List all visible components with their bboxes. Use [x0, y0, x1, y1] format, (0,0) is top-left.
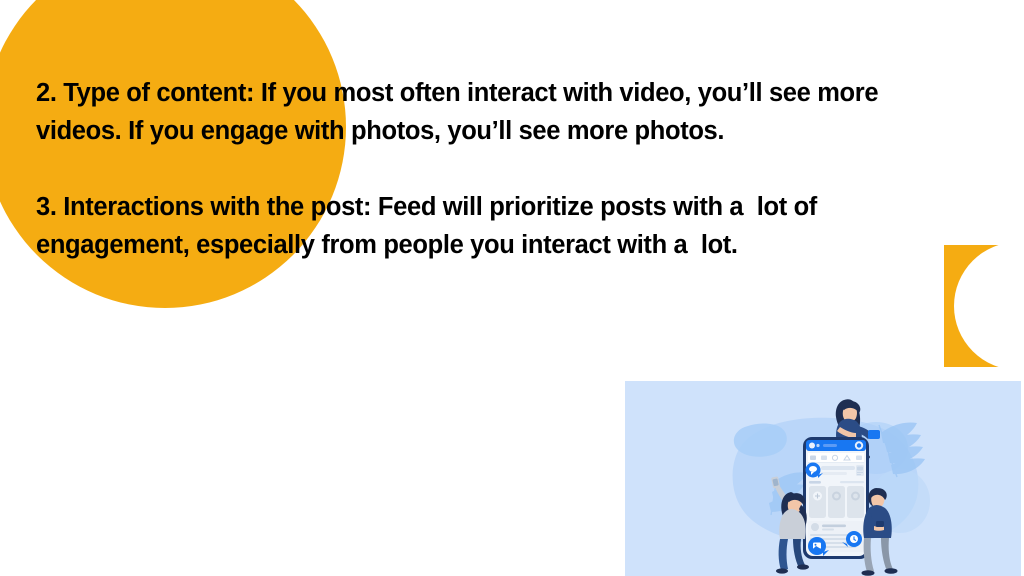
- slide-text-body: 2. Type of content: If you most often in…: [36, 74, 966, 264]
- paragraph-type-of-content: 2. Type of content: If you most often in…: [36, 74, 966, 150]
- smartphone: [803, 437, 869, 559]
- phone-nav-row: [808, 453, 864, 463]
- phone-app-header: [806, 440, 866, 451]
- social-media-illustration: [625, 381, 1021, 576]
- illustration-artwork: [625, 381, 1021, 576]
- slide-canvas: 2. Type of content: If you most often in…: [0, 0, 1024, 576]
- phone-story-cards: [809, 486, 864, 518]
- paragraph-interactions-with-post: 3. Interactions with the post: Feed will…: [36, 188, 966, 264]
